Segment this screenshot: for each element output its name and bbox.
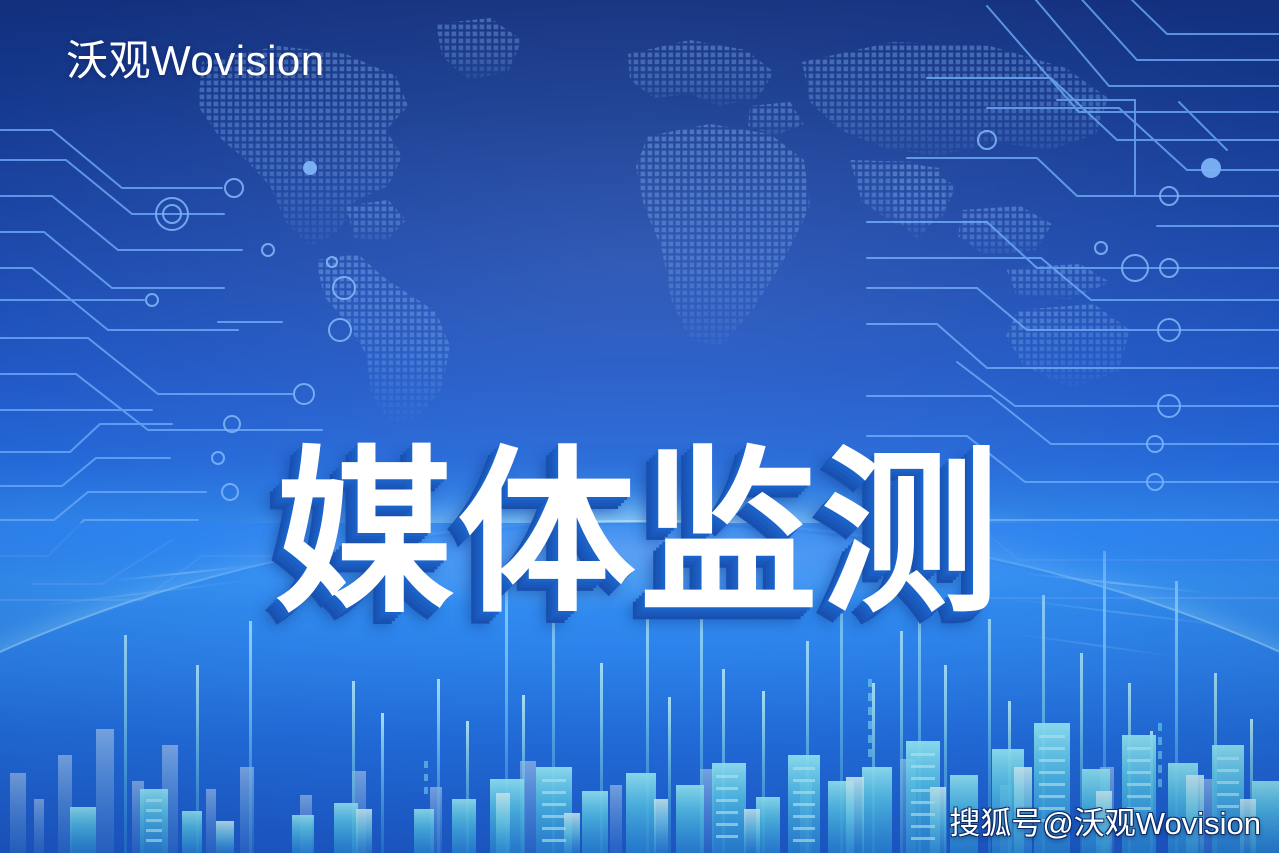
watermark: 搜狐号@沃观Wovision (949, 808, 1261, 839)
poster-canvas: 沃观Wovision 媒体监测 搜狐号@沃观Wovision (0, 0, 1279, 853)
background-vignette (0, 0, 1279, 853)
brand-logo: 沃观Wovision (66, 40, 325, 82)
page-title: 媒体监测 (0, 445, 1279, 623)
